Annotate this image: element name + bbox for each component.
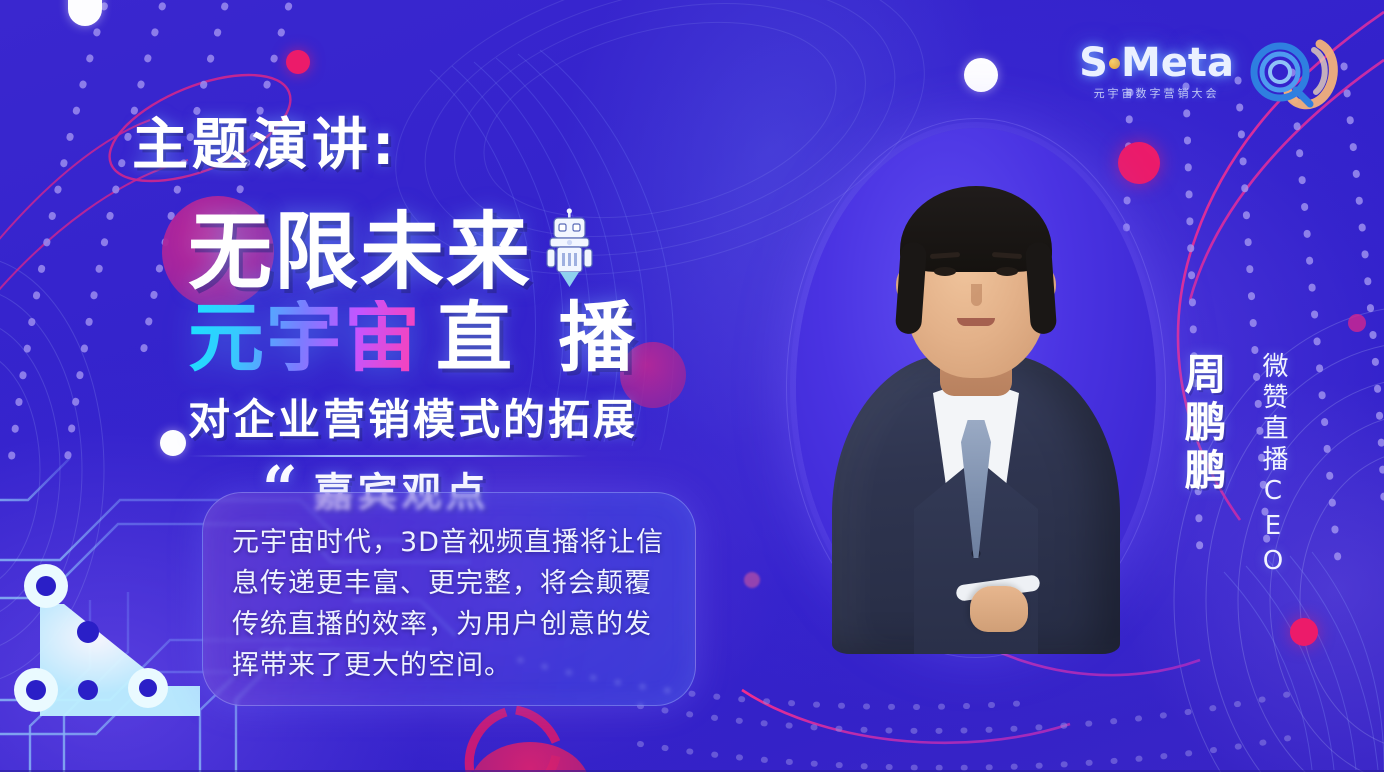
title-live-text: 直 播 [436,300,644,376]
title-line-1: 无限未来 [188,208,644,296]
speaker-name: 周鹏鹏 [1172,352,1233,496]
ripple-rings-left [0,256,104,684]
title-line-2: 元宇宙 直 播 [188,300,644,376]
triangle-node-badge [14,564,200,716]
white-dot-mid-left [160,430,186,456]
page-kicker: 主题演讲: [132,100,398,181]
pink-dot-quote-right [744,572,760,588]
title-line-1-text: 无限未来 [188,210,532,294]
eye-right [996,267,1018,276]
speaker-portrait [796,128,1156,648]
sponsor-logo[interactable]: SMeta 元宇宙数字营销大会 [1079,34,1340,110]
hand [970,586,1028,632]
white-dot-top-left [68,0,102,26]
logo-subtitle: 元宇宙数字营销大会 [1094,85,1220,101]
eye-left [934,267,956,276]
poster-canvas: 主题演讲: 无限未来 [0,0,1384,780]
title-underline [188,455,588,457]
title-metaverse-text: 元宇宙 [188,300,422,376]
pink-dot-right-edge [1348,314,1366,332]
logo-accent-dot-icon [1109,58,1120,69]
portrait-figure [826,184,1126,654]
robot-icon [542,208,598,288]
pink-dot-lower-right [1290,618,1318,646]
quote-body-text: 元宇宙时代，3D音视频直播将让信息传递更丰富、更完整，将会颠覆传统直播的效率，为… [232,522,674,686]
bottom-white-strip [0,772,1384,780]
logo-word-meta: Meta [1121,40,1234,86]
white-dot-top-right [964,58,998,92]
wave-field-right [1224,552,1384,770]
logo-word-s: S [1079,40,1108,86]
q-loop-mark-icon [1244,34,1340,110]
hair-side-right [1025,241,1057,335]
title-line-3: 对企业营销模式的拓展 [188,386,644,447]
nose [971,284,982,306]
speaker-role: 微赞直播CEO [1255,352,1292,581]
pink-dot-kicker [286,50,310,74]
title-block: 无限未来 [188,208,644,457]
mouth [957,318,995,326]
speaker-credit: 微赞直播CEO 周鹏鹏 [1172,352,1292,581]
logo-wordmark: SMeta [1079,43,1234,83]
logo-text-wrap: SMeta 元宇宙数字营销大会 [1079,43,1234,101]
